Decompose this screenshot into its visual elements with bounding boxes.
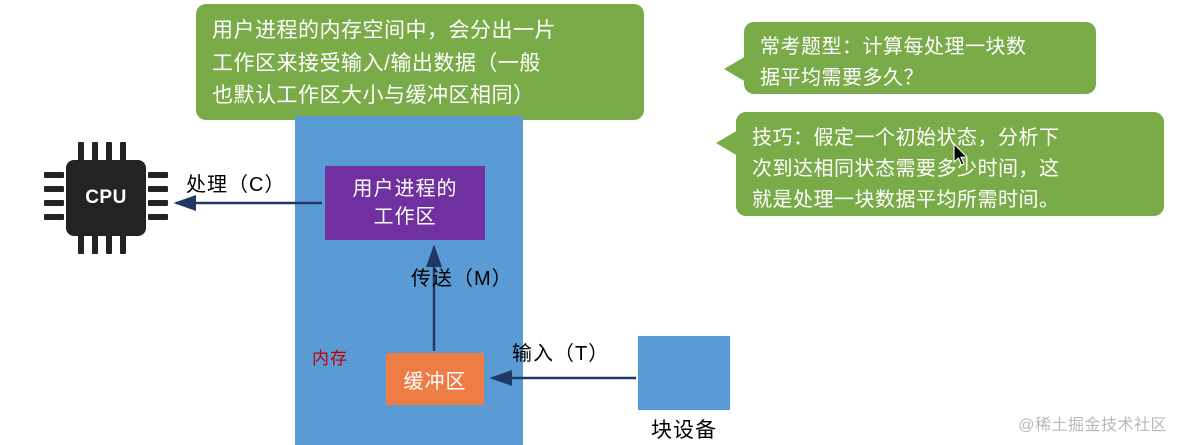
arrow-transfer-label: 传送（M） xyxy=(411,262,513,291)
cpu-pin xyxy=(148,186,168,192)
arrow-input-label: 输入（T） xyxy=(512,337,609,366)
cpu-pin xyxy=(148,172,168,178)
user-process-work-area-label: 用户进程的 工作区 xyxy=(353,175,458,231)
cpu-pin xyxy=(78,142,84,162)
callout-tip-tail xyxy=(716,130,738,156)
callout-exam-question-tail xyxy=(724,56,746,82)
cpu-label: CPU xyxy=(85,187,127,209)
diagram-canvas: 用户进程的内存空间中，会分出一片 工作区来接受输入/输出数据（一般 也默认工作区… xyxy=(0,0,1185,445)
mouse-cursor xyxy=(953,143,969,167)
callout-tip: 技巧：假定一个初始状态，分析下 次到达相同状态需要多少时间，这 就是处理一块数据… xyxy=(736,112,1164,216)
buffer-block-label: 缓冲区 xyxy=(404,365,467,394)
block-device-label: 块设备 xyxy=(638,414,730,444)
cpu-pin xyxy=(120,142,126,162)
cpu-pin xyxy=(92,234,98,254)
cpu-pin xyxy=(148,214,168,220)
cpu-pin xyxy=(120,234,126,254)
callout-exam-question-text: 常考题型：计算每处理一块数 据平均需要多久？ xyxy=(760,32,1082,94)
callout-memory-note-text: 用户进程的内存空间中，会分出一片 工作区来接受输入/输出数据（一般 也默认工作区… xyxy=(212,15,628,113)
arrow-process-label: 处理（C） xyxy=(186,168,285,197)
cpu-pin xyxy=(106,234,112,254)
memory-block-label: 内存 xyxy=(312,344,348,369)
cpu-pin xyxy=(44,186,64,192)
callout-memory-note: 用户进程的内存空间中，会分出一片 工作区来接受输入/输出数据（一般 也默认工作区… xyxy=(196,4,644,120)
cpu-icon: CPU xyxy=(44,142,168,254)
user-process-work-area: 用户进程的 工作区 xyxy=(325,166,485,240)
buffer-block: 缓冲区 xyxy=(386,353,484,405)
cpu-pin xyxy=(44,200,64,206)
cpu-pin xyxy=(148,200,168,206)
cpu-pin xyxy=(106,142,112,162)
block-device-shape xyxy=(638,336,730,410)
cpu-pin xyxy=(44,172,64,178)
cpu-body: CPU xyxy=(66,160,146,236)
cpu-pin xyxy=(78,234,84,254)
cpu-pin xyxy=(44,214,64,220)
cpu-pin xyxy=(92,142,98,162)
callout-exam-question: 常考题型：计算每处理一块数 据平均需要多久？ xyxy=(744,22,1096,94)
callout-tip-text: 技巧：假定一个初始状态，分析下 次到达相同状态需要多少时间，这 就是处理一块数据… xyxy=(752,123,1150,216)
watermark: @稀土掘金技术社区 xyxy=(1018,411,1167,435)
